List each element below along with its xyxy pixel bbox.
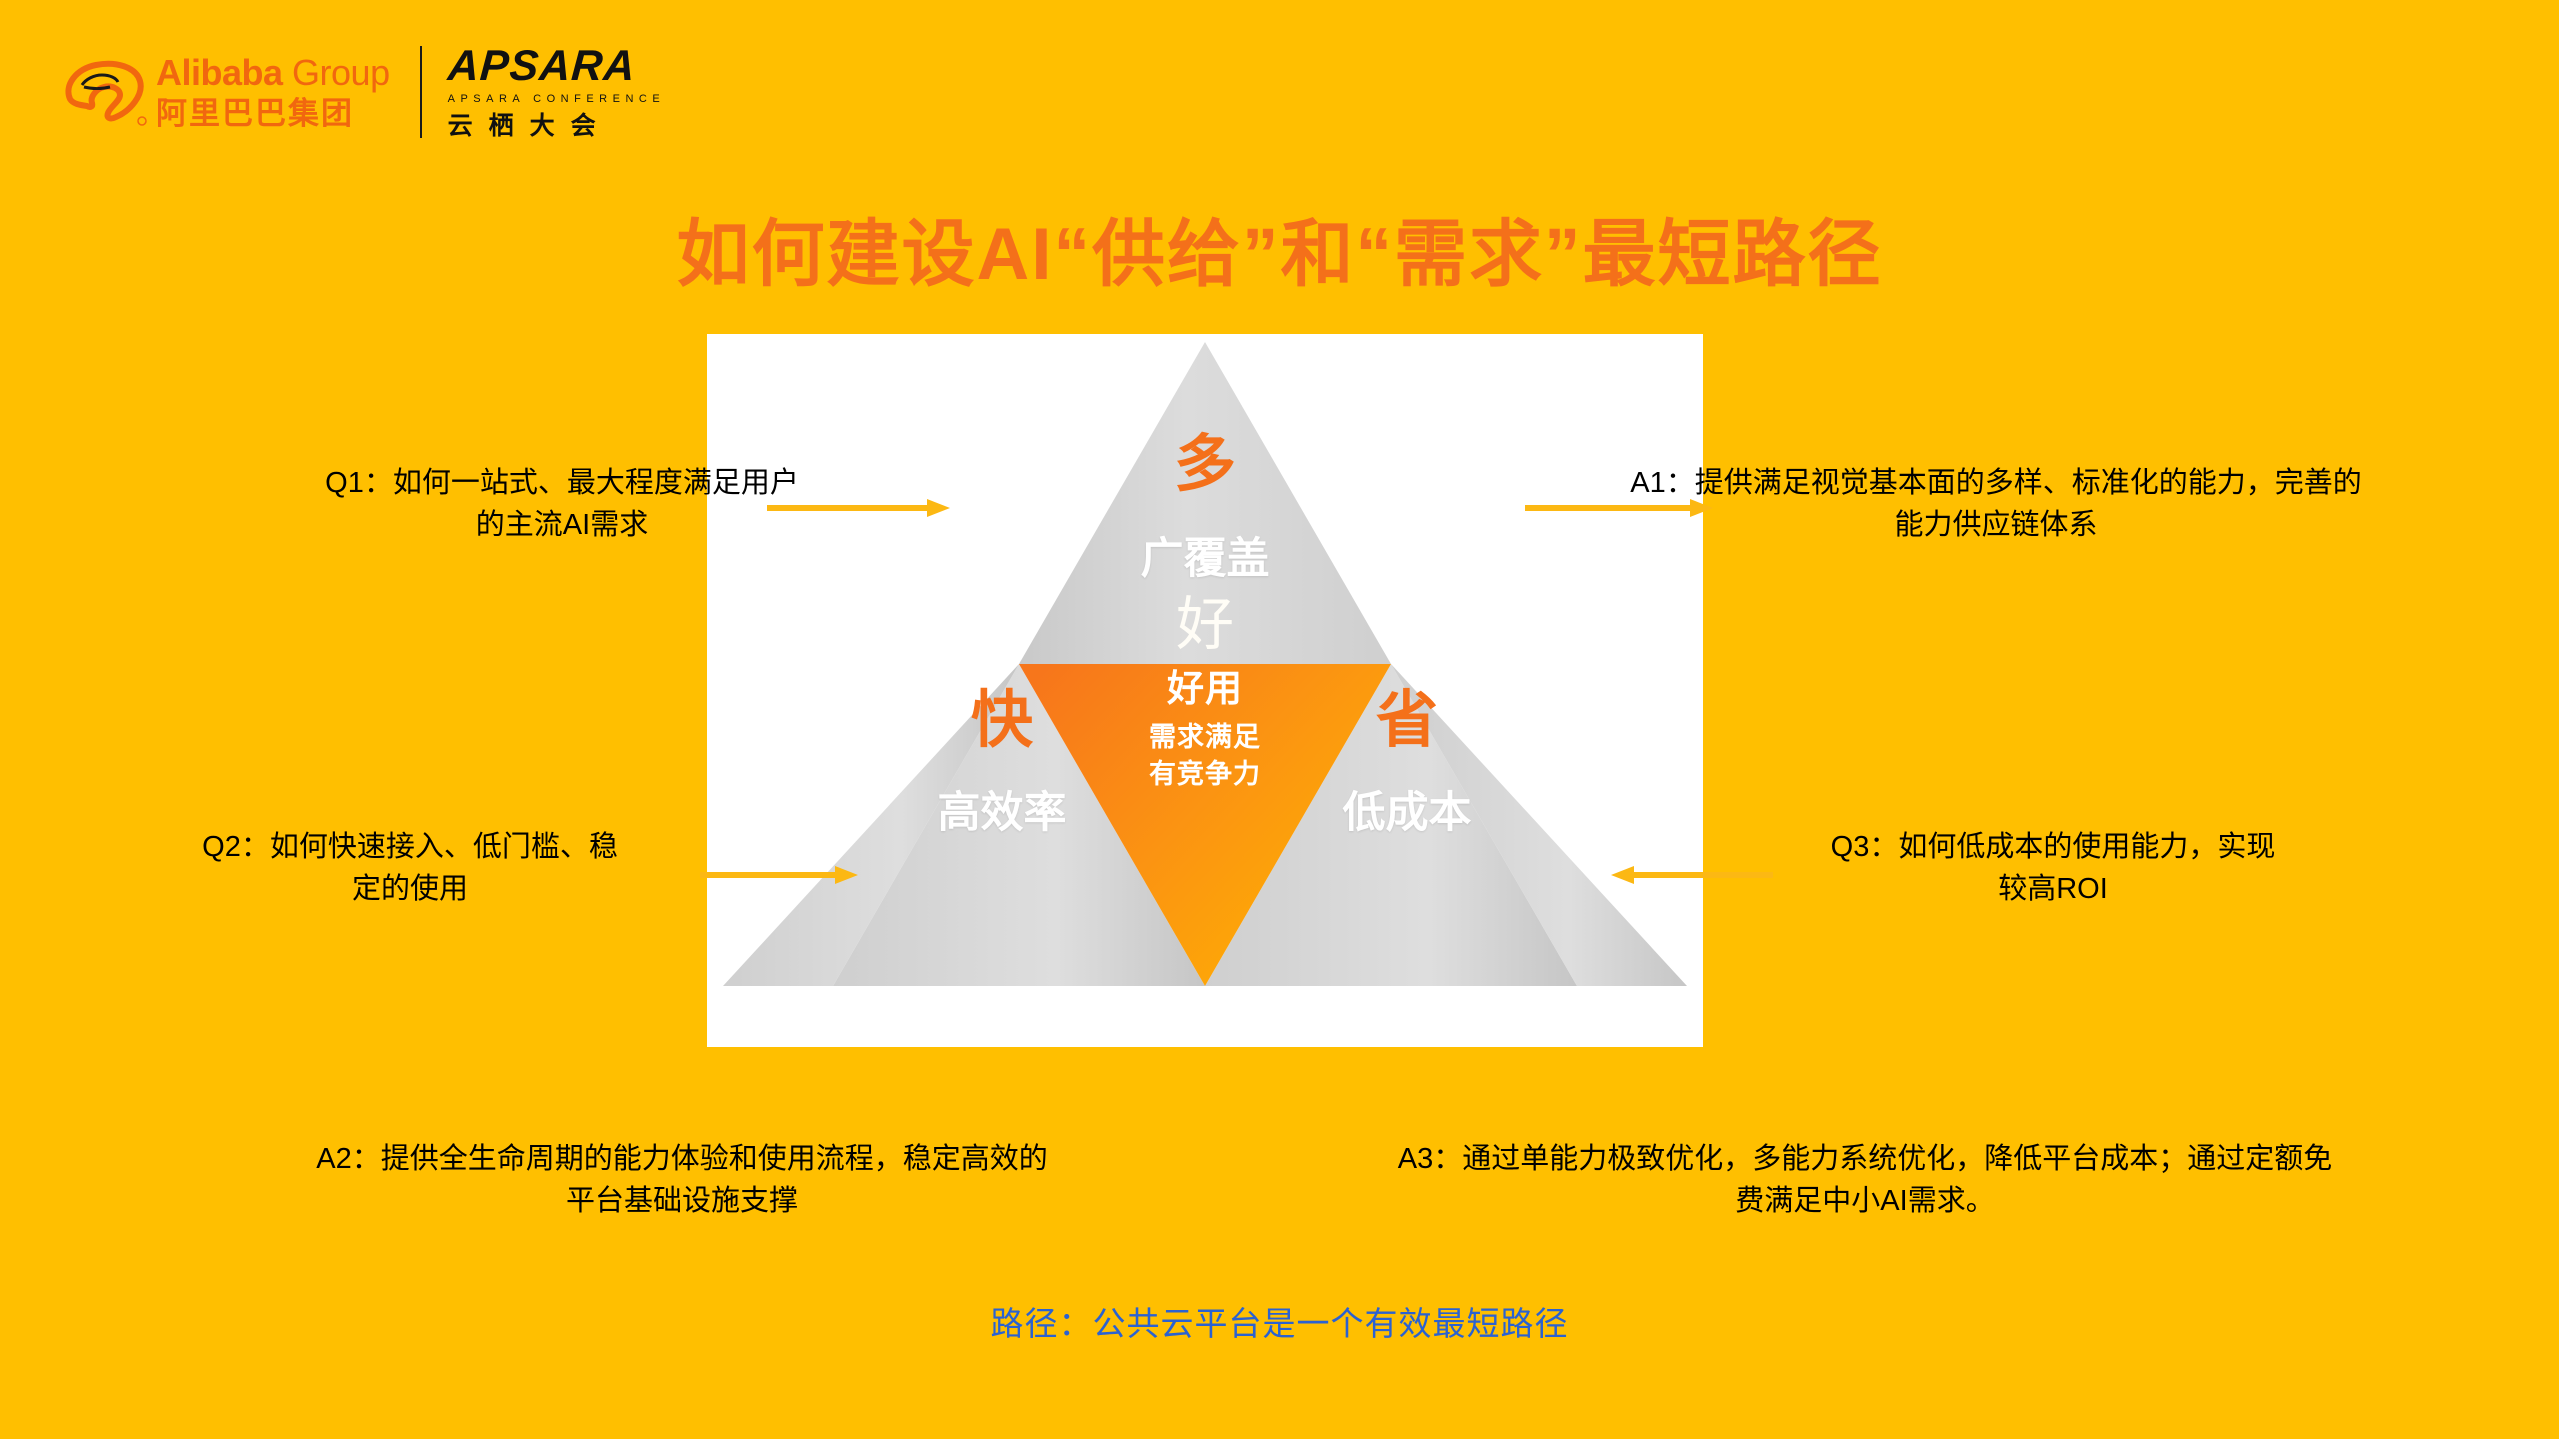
caption-q3: Q3：如何低成本的使用能力，实现 较高ROI (1768, 826, 2338, 911)
pyramid-graphic (707, 334, 1703, 1047)
brand-logo-bar: Alibaba Group 阿里巴巴集团 APSARA APSARA CONFE… (62, 44, 665, 140)
alibaba-en-light: Group (292, 52, 390, 93)
arrow-q2-to-pyramid (700, 864, 860, 886)
logo-divider (420, 46, 422, 138)
footer-path-note: 路径：公共云平台是一个有效最短路径 (0, 1297, 2559, 1345)
alibaba-en-bold: Alibaba (156, 52, 283, 93)
caption-a2: A2：提供全生命周期的能力体验和使用流程，稳定高效的 平台基础设施支撑 (252, 1138, 1112, 1223)
pyramid-cell-top-shape (1019, 342, 1391, 664)
apsara-subtitle: APSARA CONFERENCE (448, 94, 666, 105)
apsara-wordmark: APSARA (446, 45, 667, 88)
alibaba-mark-icon (62, 55, 148, 129)
caption-q2: Q2：如何快速接入、低门槛、稳 定的使用 (160, 826, 660, 911)
caption-q1: Q1：如何一站式、最大程度满足用户 的主流AI需求 (262, 462, 862, 547)
slide-title: 如何建设AI“供给”和“需求”最短路径 (0, 195, 2559, 301)
arrow-q3-to-pyramid (1608, 864, 1773, 886)
pyramid-stage: 多 广覆盖 快 高效率 省 低成本 好 好用 需求满足 有竞争力 (707, 334, 1703, 1047)
caption-a1: A1：提供满足视觉基本面的多样、标准化的能力，完善的 能力供应链体系 (1566, 462, 2426, 547)
apsara-logo: APSARA APSARA CONFERENCE 云栖大会 (448, 45, 666, 139)
alibaba-cn-line: 阿里巴巴集团 (156, 98, 390, 129)
apsara-cn-name: 云栖大会 (448, 114, 666, 139)
alibaba-wordmark: Alibaba Group 阿里巴巴集团 (156, 55, 390, 129)
alibaba-en-line: Alibaba Group (156, 55, 390, 91)
caption-a3: A3：通过单能力极致优化，多能力系统优化，降低平台成本；通过定额免 费满足中小A… (1330, 1138, 2400, 1223)
